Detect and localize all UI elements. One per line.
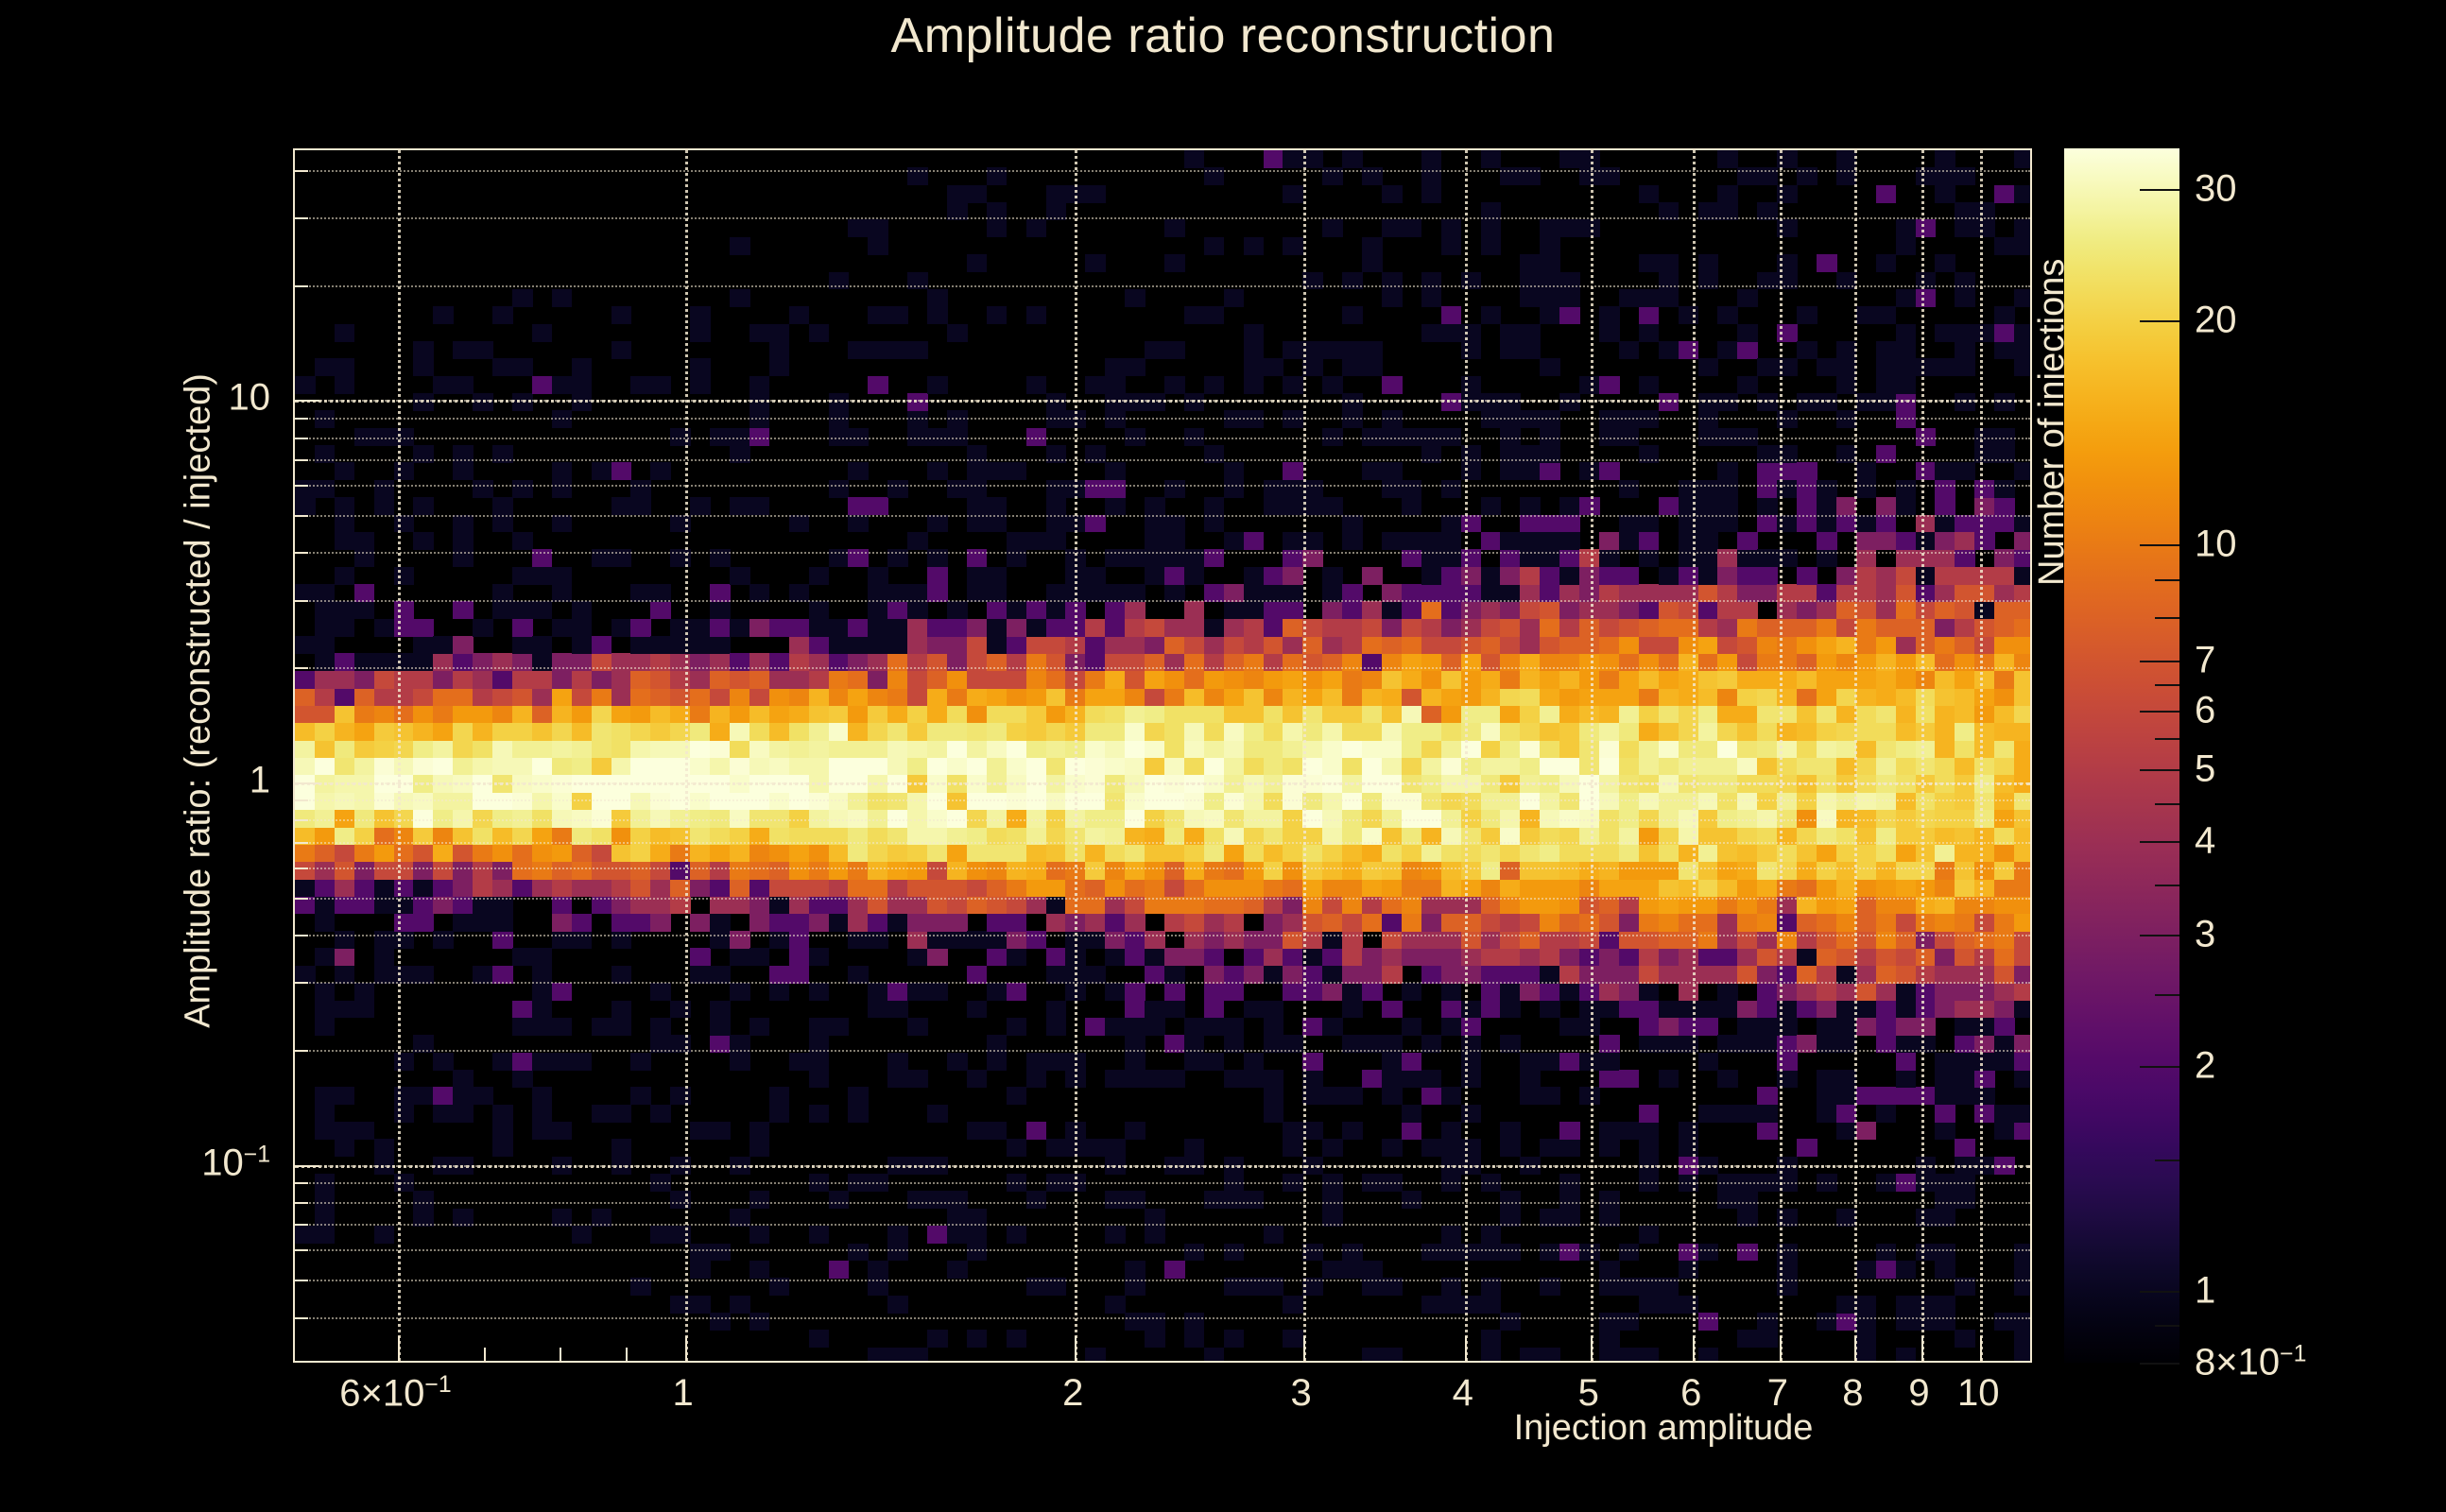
heatmap-cell xyxy=(1244,705,1265,723)
heatmap-cell xyxy=(887,983,908,1001)
heatmap-cell xyxy=(1639,758,1660,776)
heatmap-cell xyxy=(1994,688,2015,706)
colorbar-tick xyxy=(2140,1291,2179,1293)
heatmap-cell xyxy=(1264,966,1284,984)
colorbar-tick xyxy=(2140,935,2179,936)
heatmap-cell xyxy=(789,810,810,828)
heatmap-cell xyxy=(354,810,375,828)
heatmap-cell xyxy=(1599,601,1620,619)
heatmap-cell xyxy=(433,705,454,723)
heatmap-cell xyxy=(1362,671,1383,689)
heatmap-cell xyxy=(295,862,316,880)
heatmap-cell xyxy=(552,376,573,394)
heatmap-cell xyxy=(1481,723,1502,741)
heatmap-cell xyxy=(1441,740,1462,758)
heatmap-cell xyxy=(1994,1001,2015,1019)
heatmap-cell xyxy=(315,1226,336,1244)
heatmap-cell xyxy=(1382,532,1403,550)
heatmap-cell xyxy=(1639,914,1660,932)
axis-tick xyxy=(295,819,308,821)
heatmap-cell xyxy=(1264,636,1284,654)
heatmap-cell xyxy=(1342,966,1363,984)
heatmap-cell xyxy=(907,740,928,758)
heatmap-cell xyxy=(1481,740,1502,758)
heatmap-cell xyxy=(1322,914,1343,932)
heatmap-cell xyxy=(1500,688,1521,706)
heatmap-cell xyxy=(1382,1070,1403,1088)
heatmap-cell xyxy=(630,879,651,897)
heatmap-cell xyxy=(492,1053,513,1071)
heatmap-cell xyxy=(1836,914,1857,932)
heatmap-cell xyxy=(769,879,790,897)
heatmap-cell xyxy=(1974,931,1995,949)
heatmap-cell xyxy=(1817,723,1837,741)
heatmap-cell xyxy=(611,1001,632,1019)
heatmap-cell xyxy=(1085,1018,1106,1036)
heatmap-cell xyxy=(848,1087,869,1105)
heatmap-cell xyxy=(1836,671,1857,689)
heatmap-cell xyxy=(1046,844,1067,862)
heatmap-cell xyxy=(1204,931,1225,949)
heatmap-cell xyxy=(1264,358,1284,376)
heatmap-cell xyxy=(1224,619,1245,637)
heatmap-cell xyxy=(749,688,770,706)
heatmap-cell xyxy=(769,810,790,828)
heatmap-cell xyxy=(1935,914,1955,932)
heatmap-cell xyxy=(1717,966,1738,984)
heatmap-cell xyxy=(532,705,553,723)
heatmap-cell xyxy=(1105,671,1126,689)
heatmap-cell xyxy=(947,1226,968,1244)
heatmap-cell xyxy=(315,1105,336,1123)
heatmap-cell xyxy=(1264,948,1284,966)
heatmap-cell xyxy=(789,671,810,689)
heatmap-cell xyxy=(1599,844,1620,862)
heatmap-cell xyxy=(572,619,593,637)
heatmap-cell xyxy=(1955,601,1975,619)
heatmap-cell xyxy=(1955,966,1975,984)
heatmap-cell xyxy=(1007,636,1027,654)
heatmap-cell xyxy=(374,705,395,723)
heatmap-cell xyxy=(413,1191,434,1209)
heatmap-cell xyxy=(1856,567,1877,585)
heatmap-cell xyxy=(1836,758,1857,776)
heatmap-cell xyxy=(1974,671,1995,689)
heatmap-cell xyxy=(2014,619,2032,637)
heatmap-cell xyxy=(512,723,533,741)
axis-tick xyxy=(295,898,308,900)
heatmap-cell xyxy=(1244,948,1265,966)
heatmap-cell xyxy=(1757,272,1778,290)
heatmap-cell xyxy=(1935,497,1955,515)
heatmap-cell xyxy=(1085,254,1106,272)
heatmap-cell xyxy=(1659,1001,1679,1019)
heatmap-cell xyxy=(1520,289,1541,307)
heatmap-cell xyxy=(1619,671,1640,689)
heatmap-cell xyxy=(1481,636,1502,654)
heatmap-cell xyxy=(1007,1226,1027,1244)
heatmap-cell xyxy=(1876,1105,1897,1123)
heatmap-cell xyxy=(1283,480,1303,498)
heatmap-cell xyxy=(512,758,533,776)
heatmap-cell xyxy=(1797,758,1817,776)
heatmap-cell xyxy=(1224,636,1245,654)
heatmap-cell xyxy=(1164,532,1185,550)
heatmap-cell xyxy=(1639,723,1660,741)
heatmap-cell xyxy=(2014,983,2032,1001)
heatmap-cell xyxy=(868,844,888,862)
heatmap-cell xyxy=(829,740,850,758)
heatmap-cell xyxy=(1362,758,1383,776)
heatmap-cell xyxy=(1500,619,1521,637)
heatmap-cell xyxy=(967,810,988,828)
heatmap-cell xyxy=(532,1105,553,1123)
heatmap-cell xyxy=(592,1105,612,1123)
heatmap-cell xyxy=(1856,1122,1877,1140)
heatmap-cell xyxy=(1916,723,1937,741)
heatmap-cell xyxy=(1757,879,1778,897)
heatmap-cell xyxy=(2014,758,2032,776)
heatmap-cell xyxy=(710,966,731,984)
heatmap-cell xyxy=(1639,1122,1660,1140)
heatmap-cell xyxy=(1342,601,1363,619)
grid-line-horizontal xyxy=(295,400,2030,403)
heatmap-cell xyxy=(473,688,493,706)
heatmap-cell xyxy=(374,671,395,689)
heatmap-cell xyxy=(1402,497,1422,515)
heatmap-cell xyxy=(1955,723,1975,741)
heatmap-cell xyxy=(1856,1330,1877,1348)
heatmap-cell xyxy=(769,844,790,862)
heatmap-cell xyxy=(1342,740,1363,758)
heatmap-cell xyxy=(907,705,928,723)
heatmap-cell xyxy=(1737,705,1758,723)
heatmap-cell xyxy=(473,480,493,498)
heatmap-cell xyxy=(1520,1053,1541,1071)
heatmap-cell xyxy=(710,1313,731,1331)
heatmap-cell xyxy=(1085,376,1106,394)
heatmap-cell xyxy=(1145,636,1165,654)
heatmap-cell xyxy=(868,1261,888,1279)
heatmap-cell xyxy=(1085,723,1106,741)
heatmap-cell xyxy=(1994,1105,2015,1123)
heatmap-cell xyxy=(1994,879,2015,897)
heatmap-cell xyxy=(1382,601,1403,619)
heatmap-cell xyxy=(1421,1087,1442,1105)
heatmap-cell xyxy=(987,688,1008,706)
heatmap-cell xyxy=(1046,862,1067,880)
heatmap-cell xyxy=(650,810,671,828)
axis-tick xyxy=(295,782,319,784)
heatmap-cell xyxy=(1856,983,1877,1001)
heatmap-cell xyxy=(947,636,968,654)
heatmap-cell xyxy=(1935,671,1955,689)
heatmap-cell xyxy=(1283,1139,1303,1157)
heatmap-cell xyxy=(1817,1087,1837,1105)
heatmap-cell xyxy=(1717,480,1738,498)
heatmap-cell xyxy=(315,948,336,966)
heatmap-cell xyxy=(1105,1191,1126,1209)
heatmap-cell xyxy=(1896,567,1917,585)
heatmap-cell xyxy=(769,966,790,984)
heatmap-cell xyxy=(1264,480,1284,498)
heatmap-cell xyxy=(1283,376,1303,394)
heatmap-cell xyxy=(1283,810,1303,828)
heatmap-cell xyxy=(1421,688,1442,706)
heatmap-cell xyxy=(1559,983,1580,1001)
heatmap-cell xyxy=(1402,480,1422,498)
heatmap-cell xyxy=(295,688,316,706)
heatmap-cell xyxy=(1757,515,1778,533)
heatmap-cell xyxy=(1322,723,1343,741)
heatmap-cell xyxy=(1994,983,2015,1001)
heatmap-cell xyxy=(1916,1244,1937,1262)
heatmap-cell xyxy=(453,862,474,880)
heatmap-cell xyxy=(1876,758,1897,776)
heatmap-cell xyxy=(1500,879,1521,897)
heatmap-cell xyxy=(1224,879,1245,897)
heatmap-cell xyxy=(453,532,474,550)
heatmap-cell xyxy=(1382,688,1403,706)
heatmap-cell xyxy=(1145,688,1165,706)
heatmap-cell xyxy=(1935,844,1955,862)
heatmap-cell xyxy=(532,966,553,984)
heatmap-cell xyxy=(512,1053,533,1071)
heatmap-cell xyxy=(354,705,375,723)
heatmap-cell xyxy=(690,966,711,984)
heatmap-cell xyxy=(1184,879,1205,897)
heatmap-cell xyxy=(1994,185,2015,203)
heatmap-cell xyxy=(1125,1313,1145,1331)
heatmap-cell xyxy=(730,810,750,828)
heatmap-cell xyxy=(413,914,434,932)
heatmap-cell xyxy=(710,810,731,828)
heatmap-cell xyxy=(1619,862,1640,880)
heatmap-cell xyxy=(532,601,553,619)
heatmap-cell xyxy=(1026,1191,1047,1209)
heatmap-cell xyxy=(512,1070,533,1088)
heatmap-cell xyxy=(1540,1053,1560,1071)
heatmap-cell xyxy=(730,740,750,758)
heatmap-cell xyxy=(295,497,316,515)
heatmap-cell xyxy=(1955,358,1975,376)
heatmap-cell xyxy=(1599,567,1620,585)
heatmap-cell xyxy=(1717,567,1738,585)
heatmap-cell xyxy=(1520,567,1541,585)
heatmap-cell xyxy=(512,619,533,637)
heatmap-cell xyxy=(1994,931,2015,949)
heatmap-cell xyxy=(1224,844,1245,862)
heatmap-cell xyxy=(1283,567,1303,585)
heatmap-cell xyxy=(1559,879,1580,897)
heatmap-cell xyxy=(967,185,988,203)
heatmap-cell xyxy=(1717,983,1738,1001)
heatmap-cell xyxy=(907,688,928,706)
heatmap-cell xyxy=(868,705,888,723)
heatmap-cell xyxy=(1540,844,1560,862)
heatmap-cell xyxy=(433,636,454,654)
heatmap-cell xyxy=(1797,931,1817,949)
heatmap-cell xyxy=(1836,983,1857,1001)
heatmap-cell xyxy=(650,1226,671,1244)
heatmap-cell xyxy=(1698,1018,1719,1036)
heatmap-cell xyxy=(1619,567,1640,585)
heatmap-cell xyxy=(1698,567,1719,585)
heatmap-cell xyxy=(1441,1139,1462,1157)
heatmap-cell xyxy=(1916,740,1937,758)
heatmap-cell xyxy=(1896,1001,1917,1019)
heatmap-cell xyxy=(512,705,533,723)
heatmap-cell xyxy=(1164,619,1185,637)
heatmap-cell xyxy=(868,914,888,932)
heatmap-cell xyxy=(829,272,850,290)
heatmap-cell xyxy=(1639,376,1660,394)
axis-tick xyxy=(295,842,308,844)
axis-tick xyxy=(295,1249,308,1251)
heatmap-cell xyxy=(1164,671,1185,689)
heatmap-cell xyxy=(848,914,869,932)
heatmap-cell xyxy=(1520,983,1541,1001)
heatmap-cell xyxy=(1007,810,1027,828)
heatmap-cell xyxy=(1007,931,1027,949)
heatmap-cell xyxy=(1184,705,1205,723)
heatmap-cell xyxy=(1264,1105,1284,1123)
heatmap-cell xyxy=(1105,931,1126,949)
heatmap-cell xyxy=(1342,810,1363,828)
heatmap-cell xyxy=(1540,723,1560,741)
heatmap-cell xyxy=(1876,810,1897,828)
heatmap-cell xyxy=(887,1348,908,1363)
heatmap-cell xyxy=(749,862,770,880)
heatmap-cell xyxy=(453,688,474,706)
heatmap-cell xyxy=(1342,879,1363,897)
heatmap-cell xyxy=(1896,1053,1917,1071)
grid-line-vertical xyxy=(1075,150,1077,1361)
heatmap-cell xyxy=(967,758,988,776)
heatmap-cell xyxy=(1481,601,1502,619)
heatmap-cell xyxy=(1264,1226,1284,1244)
heatmap-cell xyxy=(1540,688,1560,706)
axis-tick xyxy=(1075,1336,1077,1361)
heatmap-cell xyxy=(1481,567,1502,585)
heatmap-cell xyxy=(1164,515,1185,533)
heatmap-cell xyxy=(1085,1348,1106,1363)
colorbar-tick-minor xyxy=(2155,617,2179,619)
heatmap-cell xyxy=(1737,1018,1758,1036)
heatmap-cell xyxy=(927,567,948,585)
heatmap-cell xyxy=(1046,705,1067,723)
heatmap-cell xyxy=(473,723,493,741)
heatmap-cell xyxy=(335,1087,355,1105)
heatmap-cell xyxy=(1085,966,1106,984)
heatmap-cell xyxy=(1362,462,1383,480)
grid-line-vertical xyxy=(1921,150,1924,1361)
heatmap-cell xyxy=(295,879,316,897)
heatmap-cell xyxy=(1382,758,1403,776)
heatmap-cell xyxy=(1322,844,1343,862)
heatmap-cell xyxy=(1244,376,1265,394)
heatmap-cell xyxy=(987,705,1008,723)
heatmap-cell xyxy=(1955,1139,1975,1157)
x-tick-label-1: 1 xyxy=(672,1372,693,1415)
heatmap-cell xyxy=(1876,515,1897,533)
heatmap-cell xyxy=(1264,150,1284,168)
heatmap-cell xyxy=(611,341,632,359)
heatmap-cell xyxy=(1856,601,1877,619)
heatmap-cell xyxy=(650,879,671,897)
heatmap-cell xyxy=(710,862,731,880)
heatmap-cell xyxy=(927,1105,948,1123)
heatmap-cell xyxy=(1757,1122,1778,1140)
heatmap-cell xyxy=(1935,619,1955,637)
heatmap-cell xyxy=(315,601,336,619)
heatmap-cell xyxy=(552,480,573,498)
heatmap-cell xyxy=(1500,740,1521,758)
heatmap-cell xyxy=(1955,272,1975,290)
heatmap-cell xyxy=(1955,1053,1975,1071)
heatmap-cell xyxy=(413,705,434,723)
heatmap-cell xyxy=(1639,966,1660,984)
heatmap-cell xyxy=(1441,931,1462,949)
heatmap-cell xyxy=(1698,1313,1719,1331)
heatmap-cell xyxy=(650,740,671,758)
heatmap-cell xyxy=(1500,914,1521,932)
heatmap-cell xyxy=(1698,879,1719,897)
heatmap-cell xyxy=(829,914,850,932)
heatmap-cell xyxy=(1402,1191,1422,1209)
heatmap-cell xyxy=(1856,862,1877,880)
heatmap-cell xyxy=(315,480,336,498)
heatmap-cell xyxy=(1520,671,1541,689)
heatmap-cell xyxy=(1125,758,1145,776)
heatmap-cell xyxy=(1836,341,1857,359)
heatmap-cell xyxy=(1520,341,1541,359)
heatmap-cell xyxy=(1916,758,1937,776)
heatmap-cell xyxy=(1856,480,1877,498)
heatmap-cell xyxy=(868,376,888,394)
heatmap-cell xyxy=(630,480,651,498)
heatmap-cell xyxy=(335,671,355,689)
heatmap-cell xyxy=(1382,219,1403,237)
heatmap-cell xyxy=(1619,740,1640,758)
heatmap-cell xyxy=(552,1122,573,1140)
colorbar xyxy=(2064,148,2179,1363)
heatmap-cell xyxy=(335,1139,355,1157)
heatmap-cell xyxy=(1994,515,2015,533)
heatmap-cell xyxy=(1994,1018,2015,1036)
heatmap-cell xyxy=(1540,810,1560,828)
heatmap-cell xyxy=(1500,1122,1521,1140)
heatmap-cell xyxy=(1836,1313,1857,1331)
heatmap-cell xyxy=(1224,462,1245,480)
heatmap-cell xyxy=(1876,619,1897,637)
heatmap-cell xyxy=(1559,1139,1580,1157)
heatmap-cell xyxy=(730,237,750,255)
heatmap-cell xyxy=(1935,879,1955,897)
heatmap-cell xyxy=(1184,914,1205,932)
heatmap-cell xyxy=(492,1105,513,1123)
axis-tick xyxy=(295,1202,308,1204)
heatmap-cell xyxy=(2014,688,2032,706)
heatmap-cell xyxy=(1717,671,1738,689)
heatmap-cell xyxy=(927,705,948,723)
heatmap-cell xyxy=(1105,688,1126,706)
heatmap-cell xyxy=(2014,462,2032,480)
colorbar-tick-label-8: 2 xyxy=(2195,1045,2215,1088)
axis-tick xyxy=(295,600,308,602)
heatmap-cell xyxy=(1342,1122,1363,1140)
heatmap-cell xyxy=(1619,931,1640,949)
